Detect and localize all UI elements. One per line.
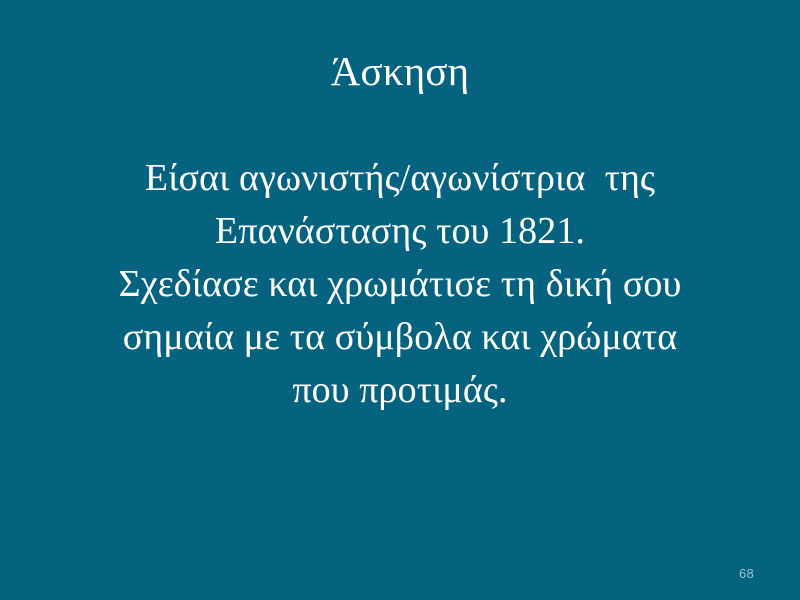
- presentation-slide: Άσκηση Είσαι αγωνιστής/αγωνίστρια της Επ…: [0, 0, 800, 600]
- slide-body-text: Είσαι αγωνιστής/αγωνίστρια της Επανάστασ…: [24, 152, 776, 417]
- body-line: Είσαι αγωνιστής/αγωνίστρια της: [24, 152, 776, 205]
- page-title: Άσκηση: [0, 46, 800, 96]
- body-line: Επανάστασης του 1821.: [24, 205, 776, 258]
- body-line: που προτιμάς.: [24, 364, 776, 417]
- body-line: Σχεδίασε και χρωμάτισε τη δική σου: [24, 258, 776, 311]
- body-line: σημαία με τα σύμβολα και χρώματα: [24, 311, 776, 364]
- page-number: 68: [739, 566, 754, 582]
